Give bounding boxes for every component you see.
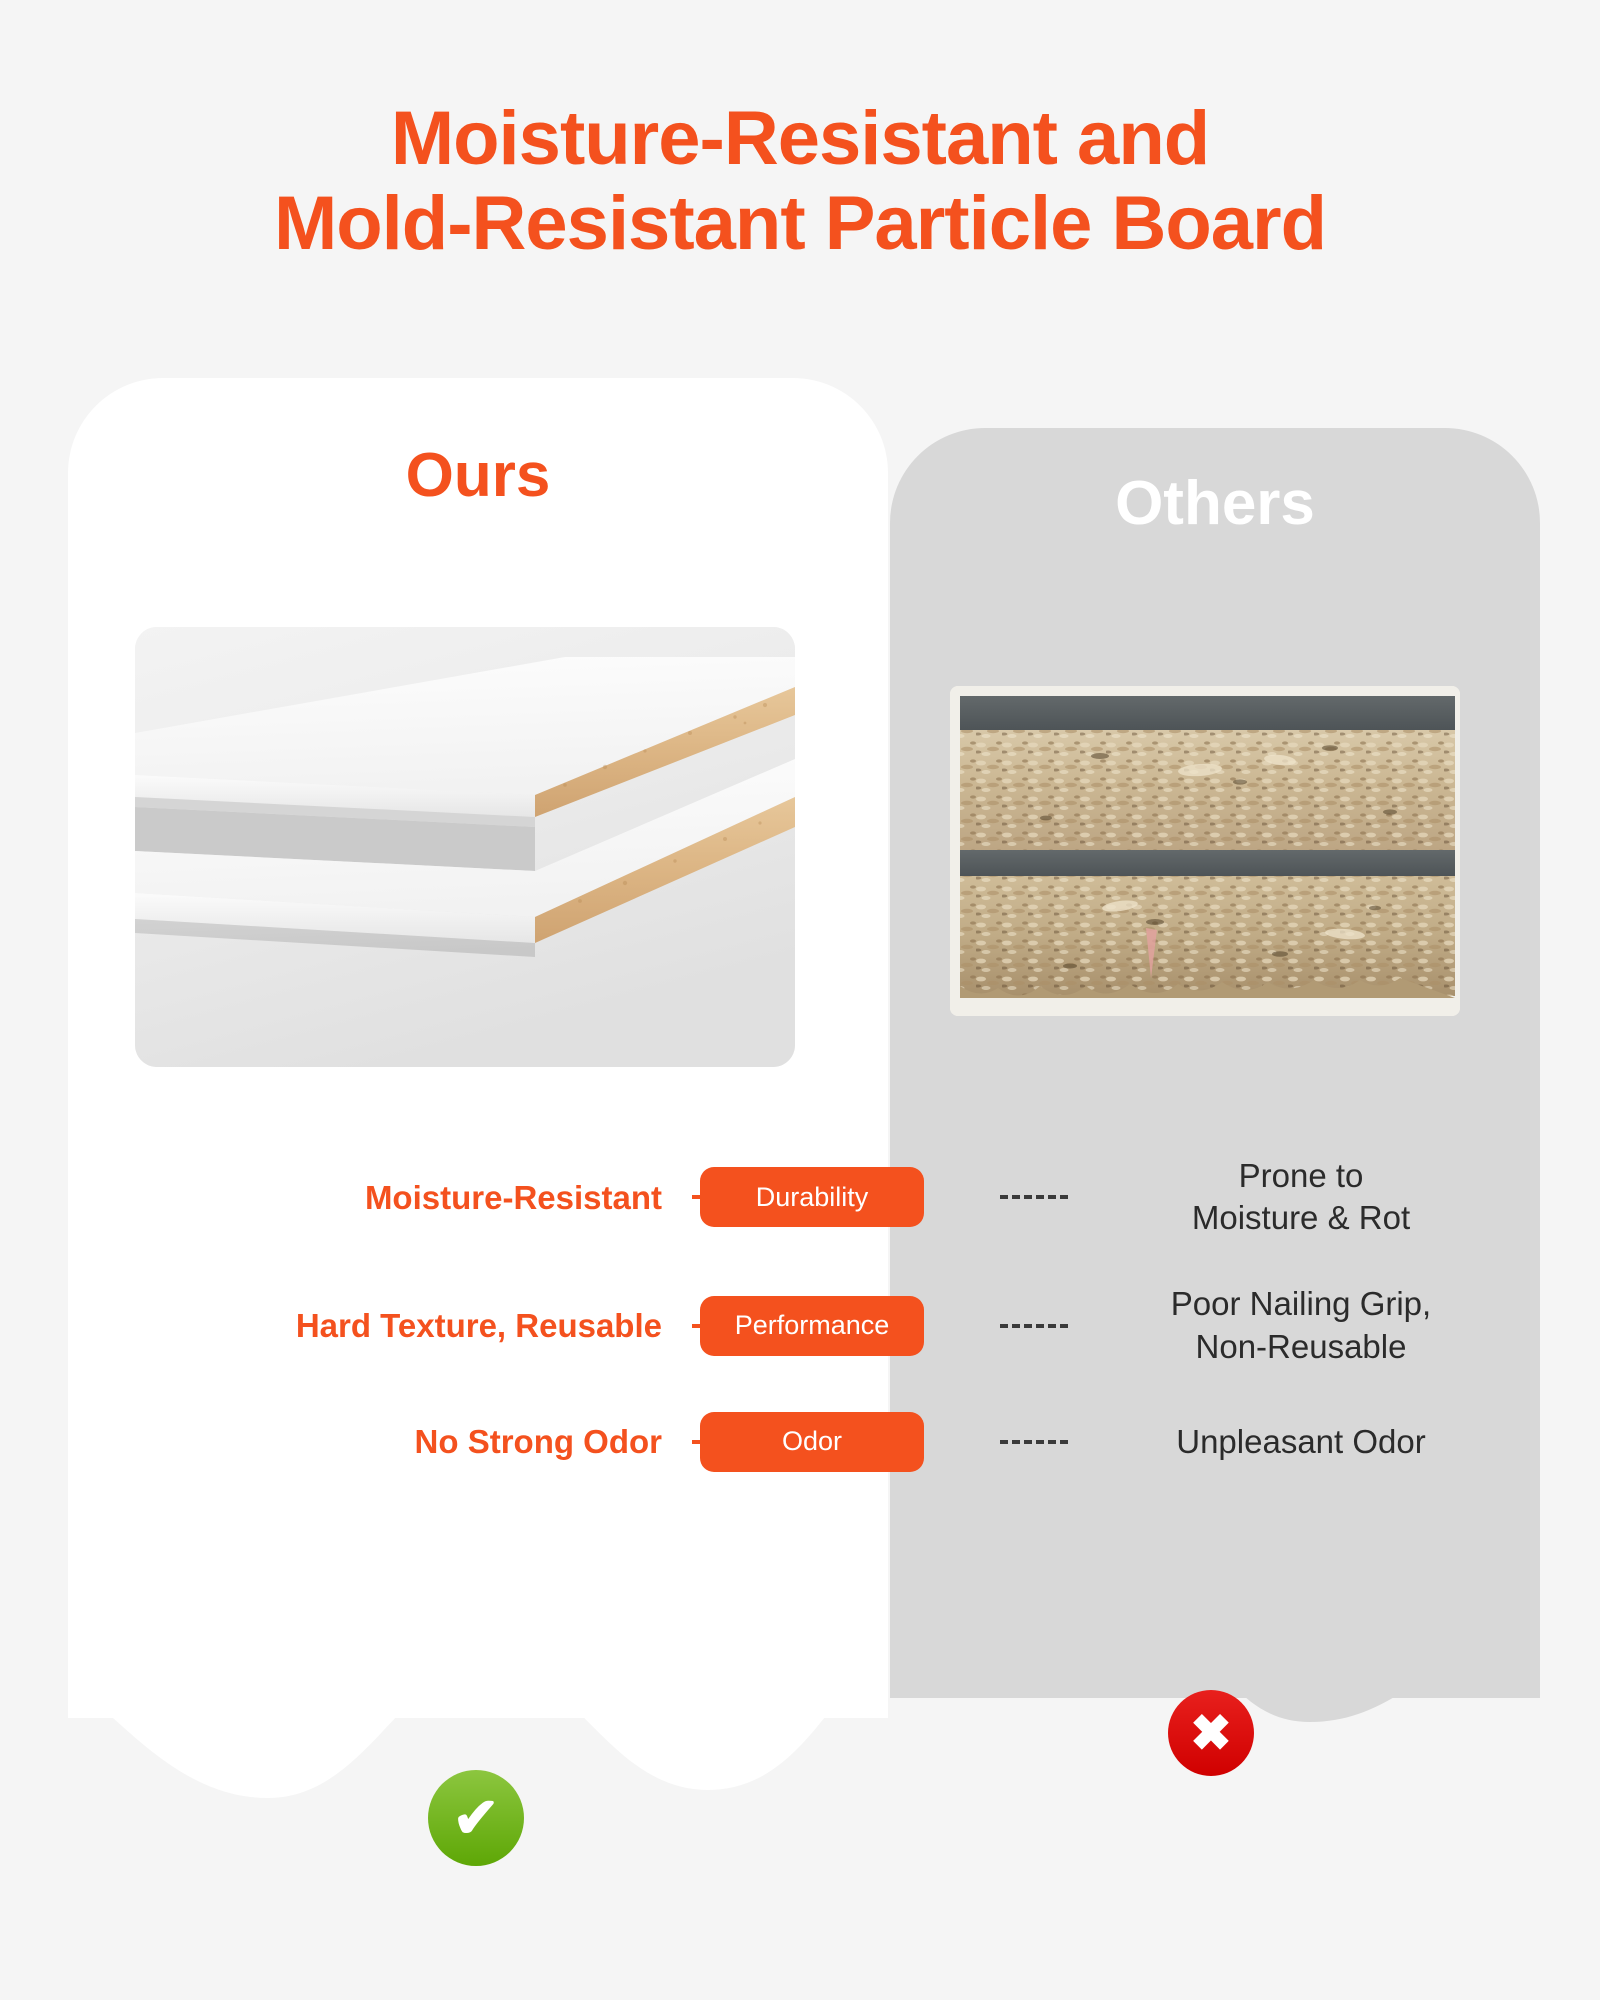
comparison-row: Hard Texture, Reusable Performance Poor … — [0, 1283, 1600, 1367]
column-heading-ours: Ours — [68, 440, 888, 511]
connector-dashed-right — [1000, 1195, 1068, 1199]
attribute-pill-odor[interactable]: Odor — [700, 1412, 924, 1472]
page-title-line-1: Moisture-Resistant and — [0, 96, 1600, 181]
page-title-line-2: Mold-Resistant Particle Board — [0, 181, 1600, 266]
cross-icon: ✖ — [1168, 1690, 1254, 1776]
comparison-row: No Strong Odor Odor Unpleasant Odor — [0, 1412, 1600, 1472]
check-icon: ✔ — [428, 1770, 524, 1866]
others-feature-line-2: Non-Reusable — [1002, 1326, 1600, 1368]
attribute-pill-performance[interactable]: Performance — [700, 1296, 924, 1356]
others-product-image — [950, 686, 1460, 1016]
others-feature-line-1: Prone to — [1002, 1155, 1600, 1197]
ours-product-image — [135, 627, 795, 1067]
coarse-particleboard-illustration — [950, 686, 1460, 1016]
ours-feature-label: No Strong Odor — [0, 1421, 700, 1462]
comparison-row: Moisture-Resistant Durability Prone to M… — [0, 1155, 1600, 1239]
others-feature-line-1: Poor Nailing Grip, — [1002, 1283, 1600, 1325]
connector-dashed-right — [1000, 1324, 1068, 1328]
column-heading-others: Others — [890, 468, 1540, 539]
attribute-pill-durability[interactable]: Durability — [700, 1167, 924, 1227]
connector-dashed-right — [1000, 1440, 1068, 1444]
page-title: Moisture-Resistant and Mold-Resistant Pa… — [0, 96, 1600, 266]
others-feature-line-1: Unpleasant Odor — [1002, 1421, 1600, 1463]
ours-feature-label: Hard Texture, Reusable — [0, 1305, 700, 1346]
ours-feature-label: Moisture-Resistant — [0, 1177, 700, 1218]
white-board-illustration — [135, 627, 795, 1067]
others-feature-line-2: Moisture & Rot — [1002, 1197, 1600, 1239]
comparison-rows: Moisture-Resistant Durability Prone to M… — [0, 1155, 1600, 1516]
